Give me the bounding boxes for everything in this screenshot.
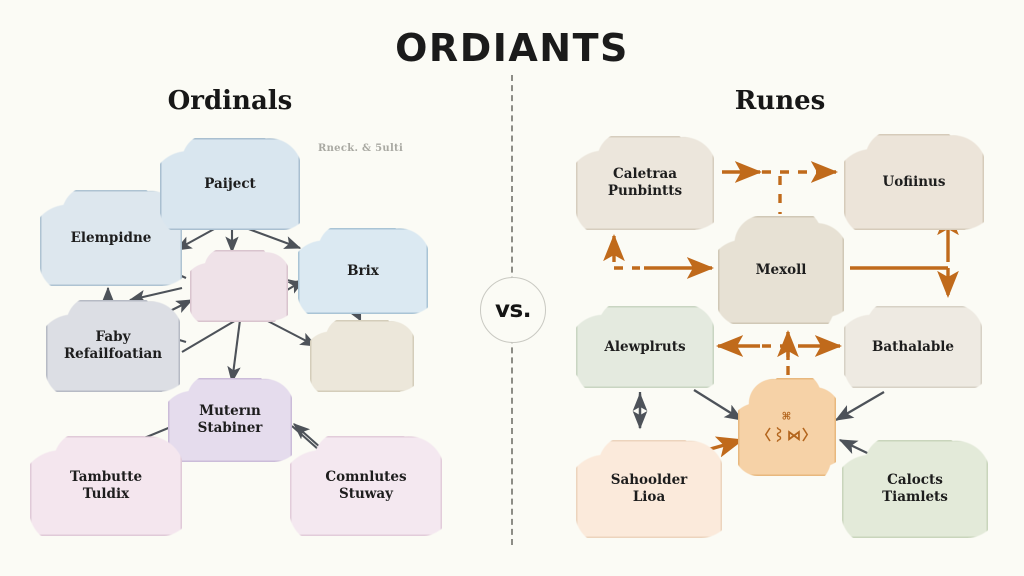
diagram-canvas: ORDIANTS Ordinals Runes vs. Rneck. & 5ul… xyxy=(0,0,1024,576)
node-comnlutes[interactable]: Comnlutes Stuway xyxy=(290,436,442,536)
node-paiject[interactable]: Paiject xyxy=(160,138,300,230)
node-beige[interactable] xyxy=(310,320,414,392)
node-label: Calocts Tiamlets xyxy=(882,472,948,506)
node-calocts[interactable]: Calocts Tiamlets xyxy=(842,440,988,538)
node-sahoolder[interactable]: Sahoolder Lioa xyxy=(576,440,722,538)
node-label: Sahoolder Lioa xyxy=(611,472,688,506)
rune-glyphs: ⌘ 〈⌇⋈〉 xyxy=(757,408,817,446)
node-label: Elempidne xyxy=(71,230,152,247)
node-label: Uofiinus xyxy=(883,174,946,191)
node-bathalable[interactable]: Bathalable xyxy=(844,306,982,388)
node-label: Mexoll xyxy=(756,262,807,279)
node-label: Faby Refailfoatian xyxy=(64,329,162,363)
node-mexoll[interactable]: Mexoll xyxy=(718,216,844,324)
node-label: Bathalable xyxy=(872,339,954,356)
node-alewplruts[interactable]: Alewplruts xyxy=(576,306,714,388)
node-pink-hub[interactable] xyxy=(190,250,288,322)
node-label: Caletraa Punbintts xyxy=(608,166,682,200)
node-label: Alewplruts xyxy=(604,339,685,356)
node-caletraa[interactable]: Caletraa Punbintts xyxy=(576,136,714,230)
cloud-shape xyxy=(190,250,288,322)
node-label: Tambutte Tuldix xyxy=(70,469,142,503)
node-uofiinus[interactable]: Uofiinus xyxy=(844,134,984,230)
node-faby[interactable]: Faby Refailfoatian xyxy=(46,300,180,392)
cloud-shape xyxy=(310,320,414,392)
vs-badge: vs. xyxy=(480,277,546,343)
node-rune-core[interactable]: ⌘ 〈⌇⋈〉 xyxy=(738,378,836,476)
node-brix[interactable]: Brix xyxy=(298,228,428,314)
node-label: Brix xyxy=(347,263,379,280)
node-label: Paiject xyxy=(204,176,256,193)
node-label: Muterın Stabiner xyxy=(198,403,263,437)
node-muterin[interactable]: Muterın Stabiner xyxy=(168,378,292,462)
left-faint-note: Rneck. & 5ulti xyxy=(318,143,403,154)
node-label: Comnlutes Stuway xyxy=(325,469,406,503)
node-tambutte[interactable]: Tambutte Tuldix xyxy=(30,436,182,536)
